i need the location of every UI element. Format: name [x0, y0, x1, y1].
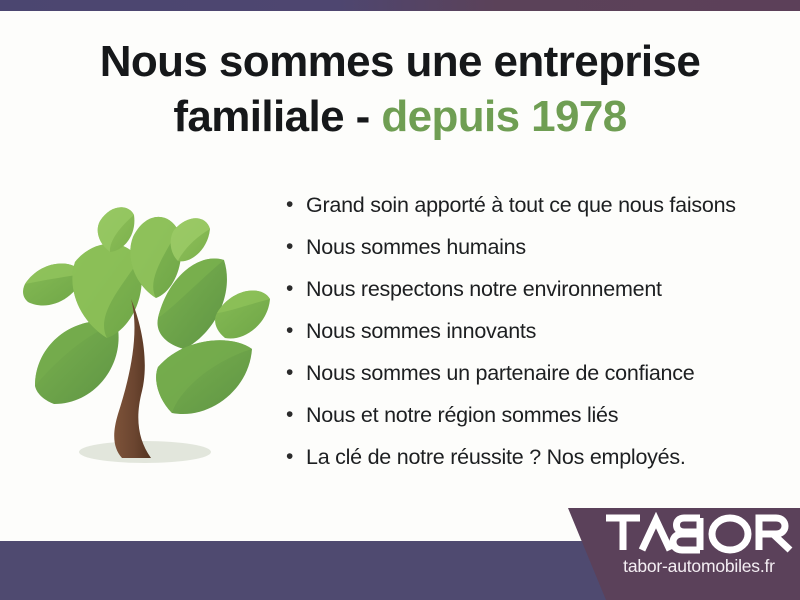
top-accent-bar — [0, 0, 800, 11]
bullet-marker-icon: • — [286, 192, 306, 218]
tree-icon — [18, 182, 272, 486]
page-title-accent: depuis 1978 — [381, 92, 626, 141]
page-title-line-1: Nous sommes une entreprise — [100, 37, 701, 86]
list-item: • La clé de notre réussite ? Nos employé… — [286, 444, 766, 486]
brand-tagline: tabor-automobiles.fr — [604, 556, 794, 577]
bullet-marker-icon: • — [286, 444, 306, 470]
bullet-marker-icon: • — [286, 276, 306, 302]
slide-canvas: Nous sommes une entreprise familiale - d… — [0, 0, 800, 600]
list-item-label: Nous sommes innovants — [306, 318, 536, 344]
list-item: • Nous sommes un partenaire de confiance — [286, 360, 766, 402]
leaf-top-small-left — [98, 207, 135, 252]
bullet-list: • Grand soin apporté à tout ce que nous … — [286, 192, 766, 486]
list-item: • Nous sommes humains — [286, 234, 766, 276]
list-item: • Nous respectons notre environnement — [286, 276, 766, 318]
leaf-top-small-right — [171, 218, 210, 261]
page-title-line-2-main: familiale - — [173, 92, 381, 141]
brand-wordmark-tabor — [604, 512, 794, 554]
list-item: • Nous sommes innovants — [286, 318, 766, 360]
list-item-label: Nous respectons notre environnement — [306, 276, 662, 302]
bullet-marker-icon: • — [286, 318, 306, 344]
bullet-marker-icon: • — [286, 234, 306, 260]
list-item-label: Nous sommes humains — [306, 234, 526, 260]
list-item: • Grand soin apporté à tout ce que nous … — [286, 192, 766, 234]
list-item-label: Nous sommes un partenaire de confiance — [306, 360, 694, 386]
bullet-marker-icon: • — [286, 360, 306, 386]
list-item-label: La clé de notre réussite ? Nos employés. — [306, 444, 686, 470]
list-item-label: Grand soin apporté à tout ce que nous fa… — [306, 192, 736, 218]
leaf-lower-right — [156, 340, 252, 414]
list-item: • Nous et notre région sommes liés — [286, 402, 766, 444]
list-item-label: Nous et notre région sommes liés — [306, 402, 618, 428]
bullet-marker-icon: • — [286, 402, 306, 428]
page-title: Nous sommes une entreprise familiale - d… — [60, 34, 740, 144]
